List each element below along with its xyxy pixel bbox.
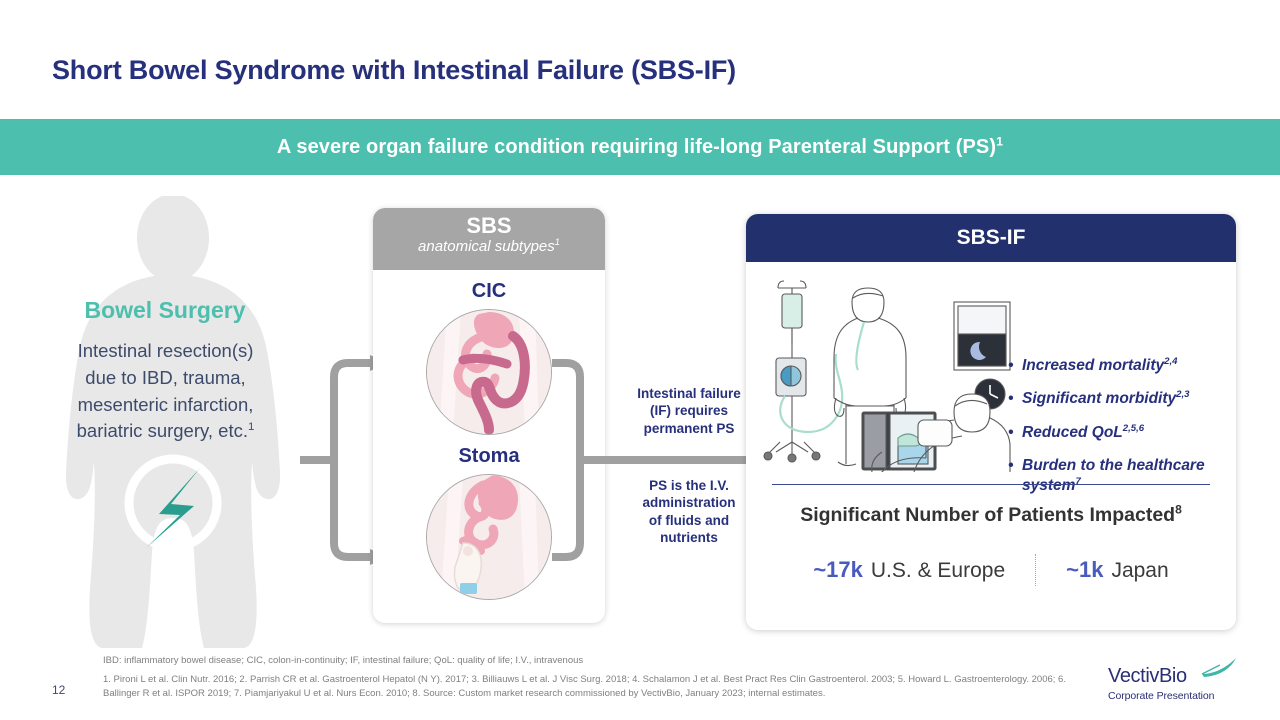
connector-text-bottom: PS is the I.V. administration of fluids … [614,477,764,546]
bullet-superscript: 2,4 [1164,356,1177,367]
bullet-superscript: 2,3 [1176,389,1189,400]
connector-text-top: Intestinal failure (IF) requires permane… [614,385,764,437]
connector-bottom-line-2: administration [614,494,764,511]
bullet-dot-icon: • [1008,423,1022,442]
sbsif-card: SBS-IF [746,214,1236,630]
impact-title: Significant Number of Patients Impacted8 [746,504,1236,527]
sbs-card-header: SBS anatomical subtypes1 [373,208,605,270]
impact-title-text: Significant Number of Patients Impacted [800,504,1175,526]
list-item: • Burden to the healthcare system7 [1008,456,1236,495]
connector-top-line-1: Intestinal failure [614,385,764,402]
brand-logo: VectivBio Corporate Presentation [1108,665,1248,713]
bowel-surgery-line-2: due to IBD, trauma, [18,365,313,392]
patient-iv-infusion-illustration-icon [758,272,1016,472]
bullet-content: Reduced QoL2,5,6 [1022,423,1144,442]
patient-stats-row: ~17k U.S. & Europe ~1k Japan [746,554,1236,586]
logo-tagline: Corporate Presentation [1108,690,1248,702]
subtype-label-cic: CIC [373,280,605,303]
footnote-abbreviations: IBD: inflammatory bowel disease; CIC, co… [103,655,583,666]
connector-top-line-2: (IF) requires [614,402,764,419]
stat-japan: ~1k Japan [1066,557,1169,583]
subtitle-main: A severe organ failure condition requiri… [277,136,996,158]
subtitle-band: A severe organ failure condition requiri… [0,119,1280,175]
bullet-dot-icon: • [1008,356,1022,375]
bullet-superscript: 2,5,6 [1123,423,1144,434]
stat-label: U.S. & Europe [871,559,1005,583]
bullet-content: Burden to the healthcare system7 [1022,456,1236,495]
bullet-dot-icon: • [1008,389,1022,408]
stat-label: Japan [1111,559,1168,583]
subtitle-superscript: 1 [996,134,1003,148]
sbsif-card-body: • Increased mortality2,4 • Significant m… [746,262,1236,630]
slide-root: Short Bowel Syndrome with Intestinal Fai… [0,0,1280,720]
bullet-text: Increased mortality [1022,357,1164,374]
bowel-surgery-line-4: bariatric surgery, etc.1 [18,418,313,445]
sbs-card-title: SBS [373,213,605,238]
page-title: Short Bowel Syndrome with Intestinal Fai… [52,55,736,86]
sbsif-bullets: • Increased mortality2,4 • Significant m… [1008,356,1236,509]
cic-anatomy-icon [426,309,552,435]
footnote-references: 1. Pironi L et al. Clin Nutr. 2016; 2. P… [103,673,1073,701]
stat-number: ~17k [813,557,863,583]
connector-bottom-line-4: nutrients [614,529,764,546]
bowel-surgery-line-4-text: bariatric surgery, etc. [77,420,248,441]
bowel-surgery-body: Intestinal resection(s) due to IBD, trau… [18,338,313,445]
bowel-surgery-superscript: 1 [248,421,254,433]
bullet-dot-icon: • [1008,456,1022,495]
stat-number: ~1k [1066,557,1103,583]
connector-top-line-3: permanent PS [614,420,764,437]
bowel-surgery-line-3: mesenteric infarction, [18,392,313,419]
stat-us-europe: ~17k U.S. & Europe [813,557,1005,583]
sbs-card-subtitle: anatomical subtypes1 [373,238,605,256]
sbs-card-subtitle-text: anatomical subtypes [418,238,555,255]
impact-title-superscript: 8 [1175,503,1182,517]
stoma-anatomy-icon [426,474,552,600]
sbsif-card-header: SBS-IF [746,214,1236,262]
bullet-content: Significant morbidity2,3 [1022,389,1190,408]
subtitle-text: A severe organ failure condition requiri… [277,136,1003,159]
list-item: • Increased mortality2,4 [1008,356,1236,375]
connector-bottom-line-1: PS is the I.V. [614,477,764,494]
connector-bottom-line-3: of fluids and [614,512,764,529]
stat-separator [1035,554,1036,586]
bullet-text: Reduced QoL [1022,424,1123,441]
sbs-card-subtitle-superscript: 1 [555,237,560,247]
page-number: 12 [52,683,65,697]
bullet-text: Burden to the healthcare system [1022,457,1205,493]
bullet-text: Significant morbidity [1022,390,1176,407]
section-divider [772,484,1210,485]
bowel-surgery-heading: Bowel Surgery [30,297,300,324]
leaf-swoosh-icon [1200,656,1240,678]
bullet-content: Increased mortality2,4 [1022,356,1178,375]
logo-name: VectivBio [1108,665,1187,687]
list-item: • Reduced QoL2,5,6 [1008,423,1236,442]
list-item: • Significant morbidity2,3 [1008,389,1236,408]
bowel-surgery-line-1: Intestinal resection(s) [18,338,313,365]
